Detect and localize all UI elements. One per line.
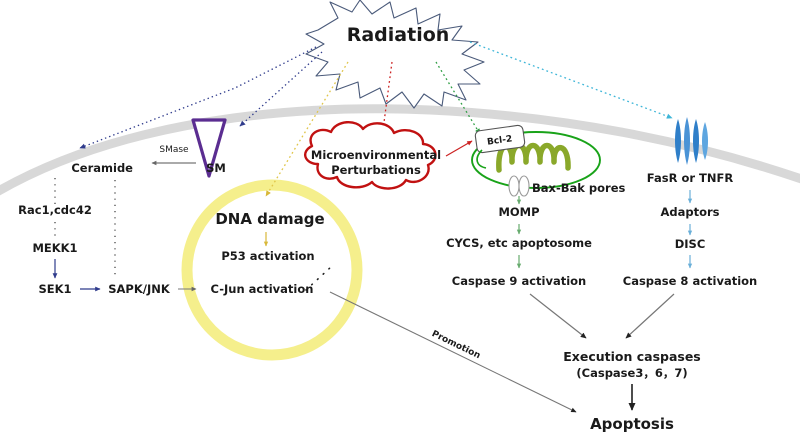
radiation-to-receptor-arrow bbox=[470, 42, 672, 118]
casp9-to-execution-arrow bbox=[530, 294, 586, 338]
cloud-to-bcl2-inhibit-arrow bbox=[446, 141, 472, 156]
node-ceramide-label: Ceramide bbox=[71, 161, 133, 175]
node-momp-label: MOMP bbox=[498, 205, 539, 219]
bax-bak-pore-right bbox=[519, 176, 529, 196]
figure-canvas: Radiation SM SMase Ceramide Rac1,cdc42 M… bbox=[0, 0, 800, 437]
radiation-label: Radiation bbox=[347, 24, 450, 46]
promotion-edge-label: Promotion bbox=[430, 329, 482, 361]
node-rac1-label: Rac1,cdc42 bbox=[18, 203, 92, 217]
fas-tnf-receptor-shape bbox=[675, 117, 708, 165]
smase-edge-label: SMase bbox=[159, 145, 189, 155]
node-caspase9-label: Caspase 9 activation bbox=[452, 274, 587, 288]
node-caspase8-label: Caspase 8 activation bbox=[623, 274, 758, 288]
node-execution-caspases-line1: Execution caspases bbox=[563, 349, 701, 364]
bax-bak-pores-label: Bax-Bak pores bbox=[532, 181, 625, 195]
node-sek1-label: SEK1 bbox=[38, 282, 71, 296]
node-fasr-tnfr-label: FasR or TNFR bbox=[647, 171, 734, 185]
node-sapk-label: SAPK/JNK bbox=[108, 282, 171, 296]
node-cjun-label: C-Jun activation bbox=[211, 282, 314, 296]
node-apoptosis-label: Apoptosis bbox=[590, 415, 674, 433]
node-sm-label: SM bbox=[206, 161, 226, 175]
node-adaptors-label: Adaptors bbox=[660, 205, 719, 219]
pathway-diagram: Radiation SM SMase Ceramide Rac1,cdc42 M… bbox=[0, 0, 800, 437]
promotion-arrow bbox=[330, 292, 576, 412]
bax-bak-pore-left bbox=[509, 176, 519, 196]
node-p53-label: P53 activation bbox=[221, 249, 314, 263]
node-mekk1-label: MEKK1 bbox=[32, 241, 77, 255]
cloud-label-line1: Microenvironmental bbox=[311, 148, 441, 162]
node-cycs-label: CYCS, etc apoptosome bbox=[446, 236, 592, 250]
cloud-label-line2: Perturbations bbox=[331, 163, 421, 177]
node-disc-label: DISC bbox=[675, 237, 706, 251]
casp8-to-execution-arrow bbox=[626, 294, 674, 338]
radiation-starburst bbox=[306, 0, 484, 108]
node-execution-caspases-line2: (Caspase3，6，7) bbox=[576, 366, 687, 380]
node-dna-damage-label: DNA damage bbox=[215, 210, 324, 228]
